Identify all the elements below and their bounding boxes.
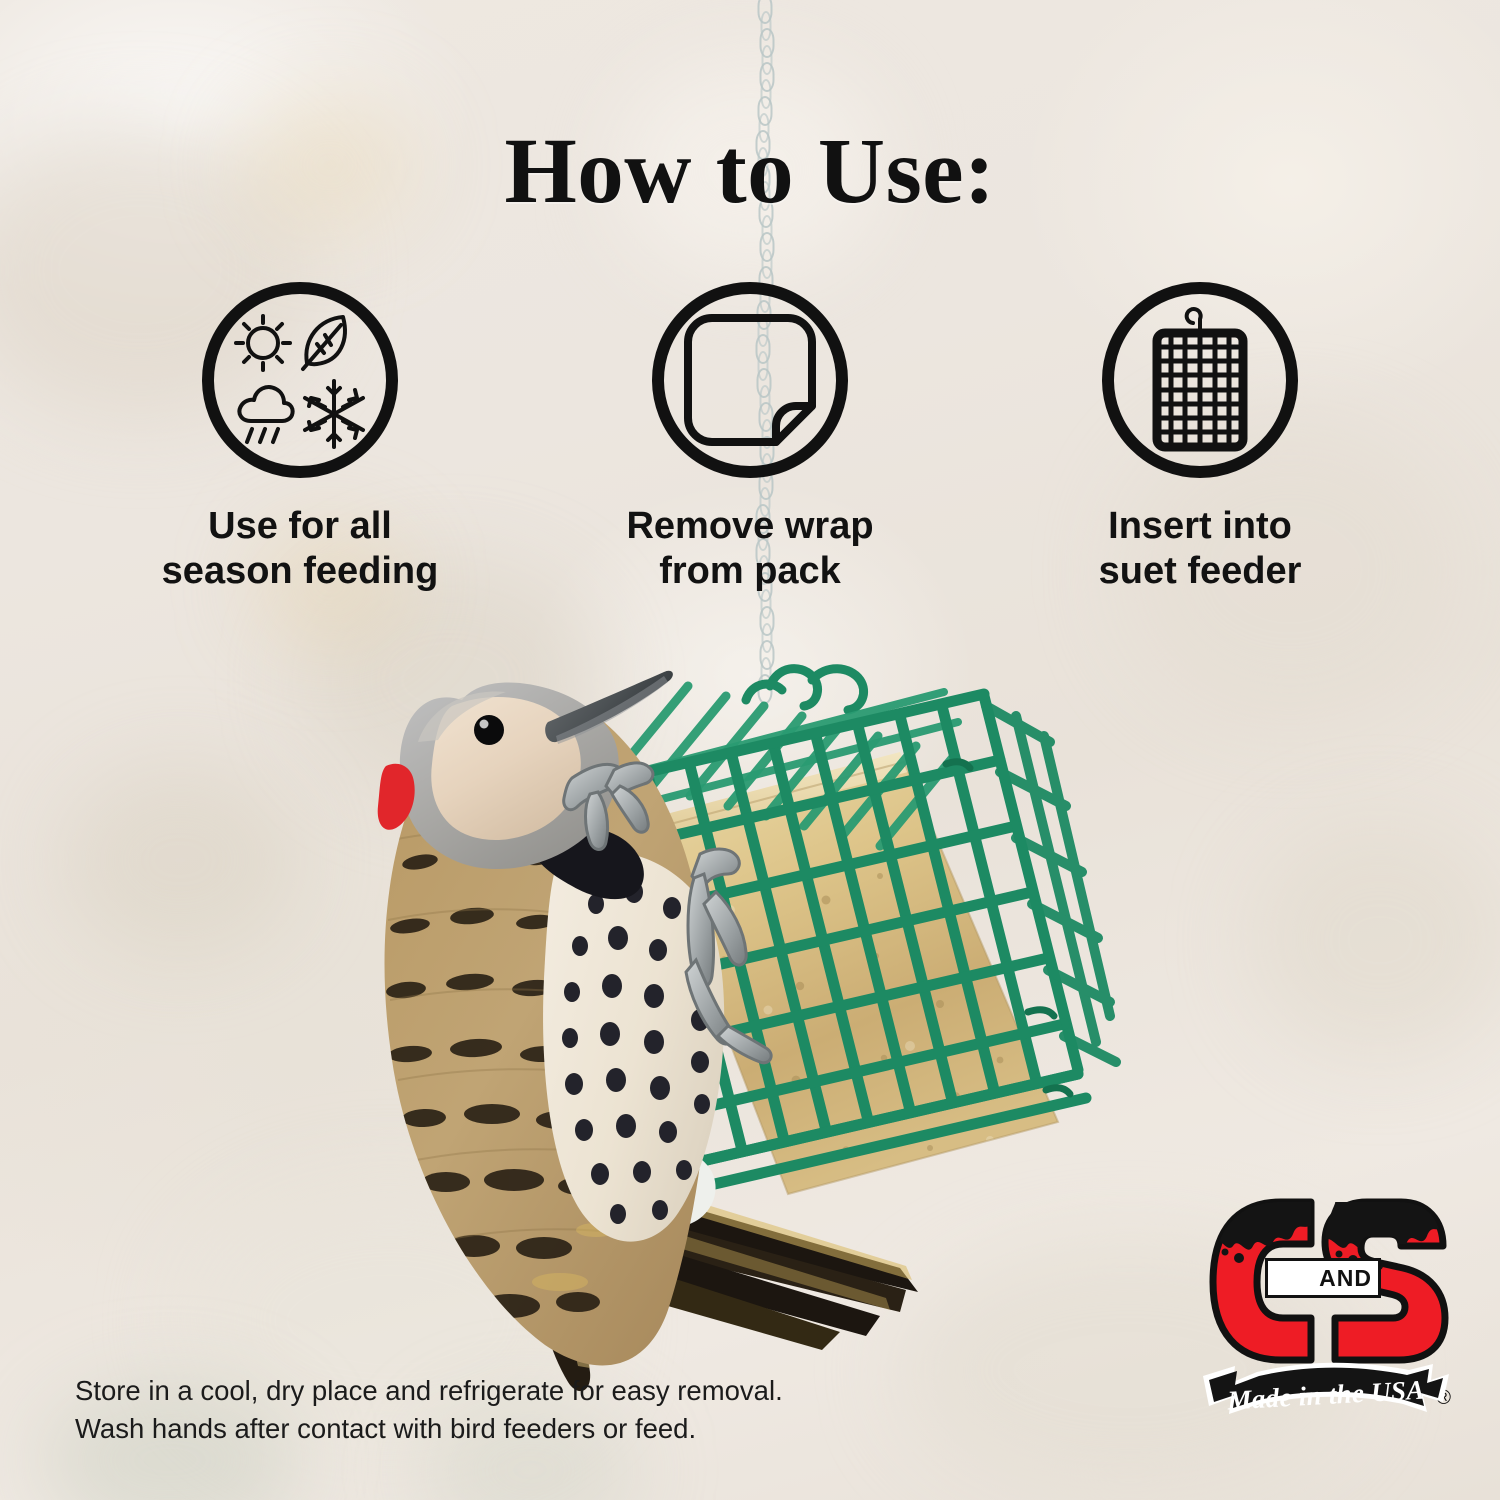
made-in-usa-banner: Made in the USA (1197, 1358, 1455, 1432)
step-label: Use for all season feeding (162, 504, 439, 594)
brand-logo: AND ® Made in the USA (1203, 1196, 1449, 1432)
sun-icon (236, 316, 290, 370)
snowflake-icon (305, 381, 363, 447)
infographic-canvas: How to Use: (0, 0, 1500, 1500)
leaf-icon (303, 317, 345, 369)
step-label: Insert into suet feeder (1099, 504, 1302, 594)
step-insert-feeder: Insert into suet feeder (1060, 282, 1340, 594)
peeling-wrapper-icon (652, 282, 848, 478)
banner-label: Made in the USA (1195, 1351, 1457, 1439)
chain-link (758, 674, 773, 704)
background-blur-blotch (1250, 820, 1500, 1060)
rain-cloud-icon (239, 387, 292, 442)
logo-and-box: AND (1265, 1258, 1381, 1298)
step-remove-wrap: Remove wrap from pack (610, 282, 890, 594)
step-label: Remove wrap from pack (626, 504, 873, 594)
background-blur-blotch (60, 760, 300, 960)
how-to-steps: Use for all season feeding Remove wrap f… (0, 282, 1500, 594)
storage-disclaimer: Store in a cool, dry place and refrigera… (75, 1372, 783, 1448)
logo-and-label: AND (1319, 1265, 1372, 1292)
four-seasons-icon (202, 282, 398, 478)
step-all-season: Use for all season feeding (160, 282, 440, 594)
suet-cage-feeder-icon (1102, 282, 1298, 478)
page-title: How to Use: (0, 118, 1500, 225)
